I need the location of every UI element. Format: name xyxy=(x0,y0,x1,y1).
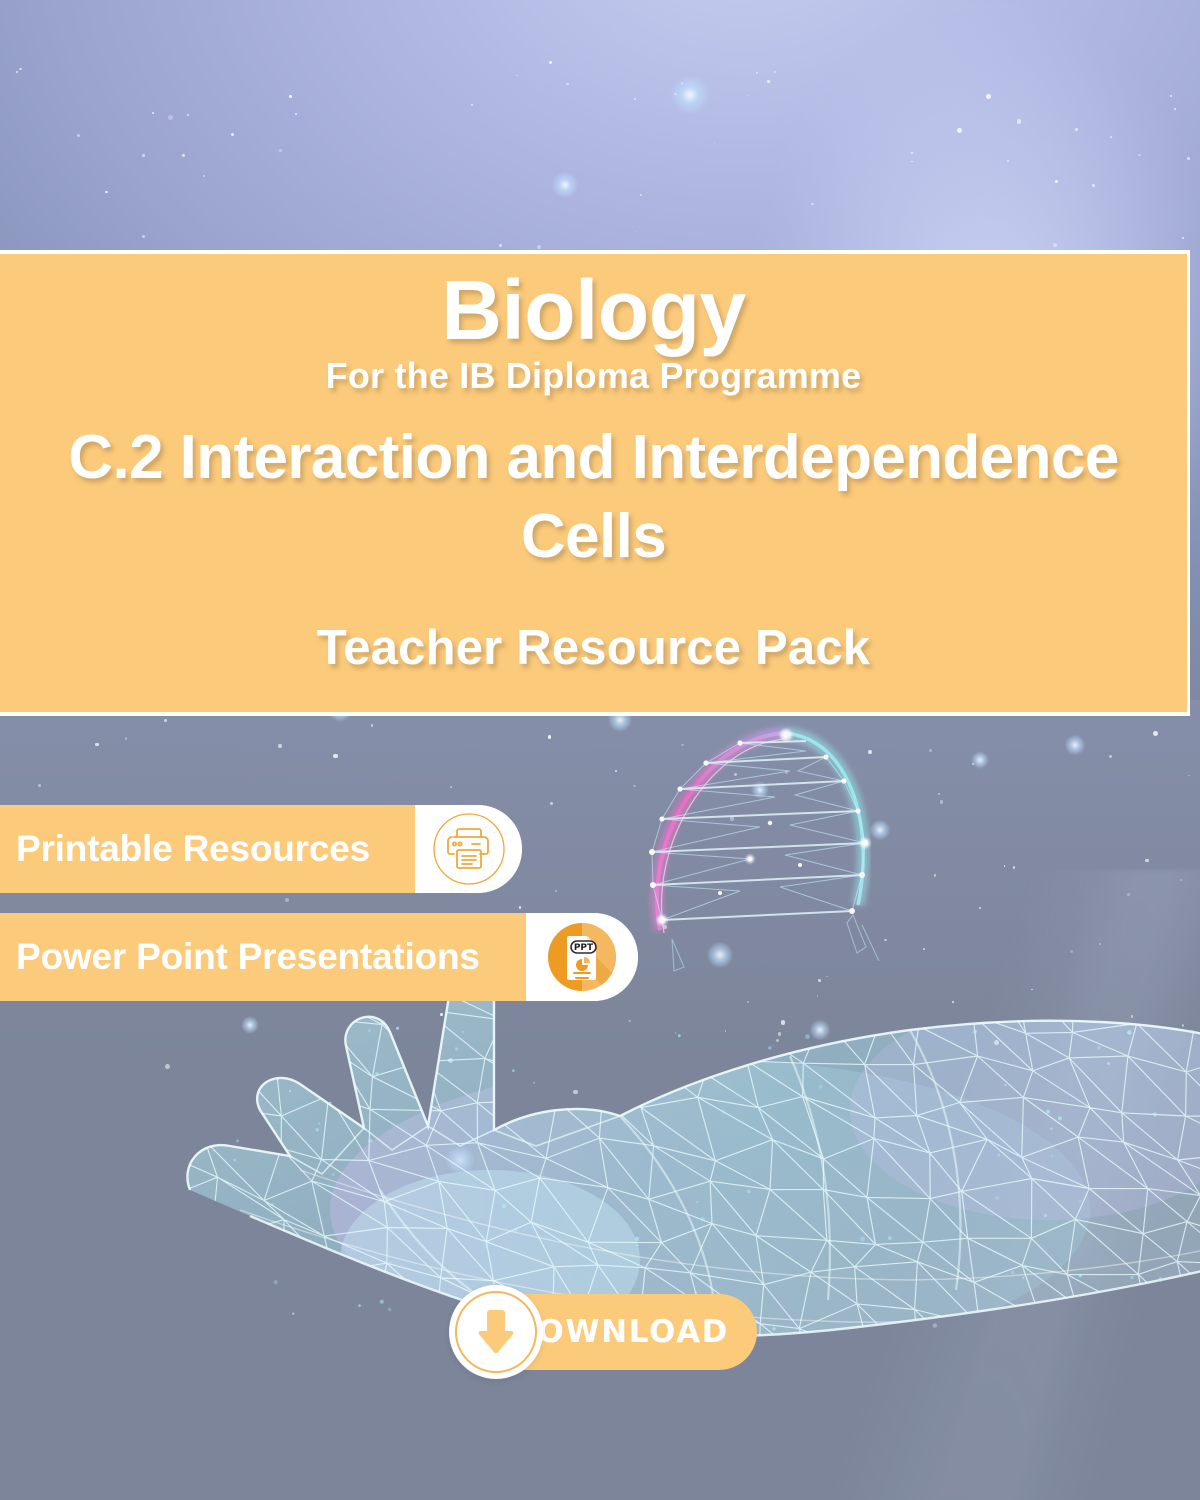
badge-printable-label: Printable Resources xyxy=(0,805,415,893)
printer-icon xyxy=(430,810,508,888)
ppt-badge-text: PPT xyxy=(574,943,594,953)
topic-title: C.2 Interaction and Interdependence Cell… xyxy=(0,418,1188,577)
badge-powerpoint-icon-wrap: PPT xyxy=(526,913,638,1001)
course-subtitle: For the IB Diploma Programme xyxy=(326,356,862,396)
download-arrow-icon xyxy=(473,1307,519,1357)
badge-printable-resources[interactable]: Printable Resources xyxy=(0,805,522,893)
badge-printable-icon-wrap xyxy=(415,805,522,893)
course-title: Biology xyxy=(441,268,746,352)
resource-pack-label: Teacher Resource Pack xyxy=(317,624,871,673)
powerpoint-file-icon: PPT xyxy=(544,919,620,995)
download-icon-circle[interactable] xyxy=(449,1285,543,1379)
title-banner: Biology For the IB Diploma Programme C.2… xyxy=(0,250,1190,716)
download-icon-ring xyxy=(455,1291,537,1373)
badge-powerpoint-presentations[interactable]: Power Point Presentations PPT xyxy=(0,913,638,1001)
poster-canvas: Biology For the IB Diploma Programme C.2… xyxy=(0,0,1200,1500)
badge-powerpoint-label: Power Point Presentations xyxy=(0,913,526,1001)
